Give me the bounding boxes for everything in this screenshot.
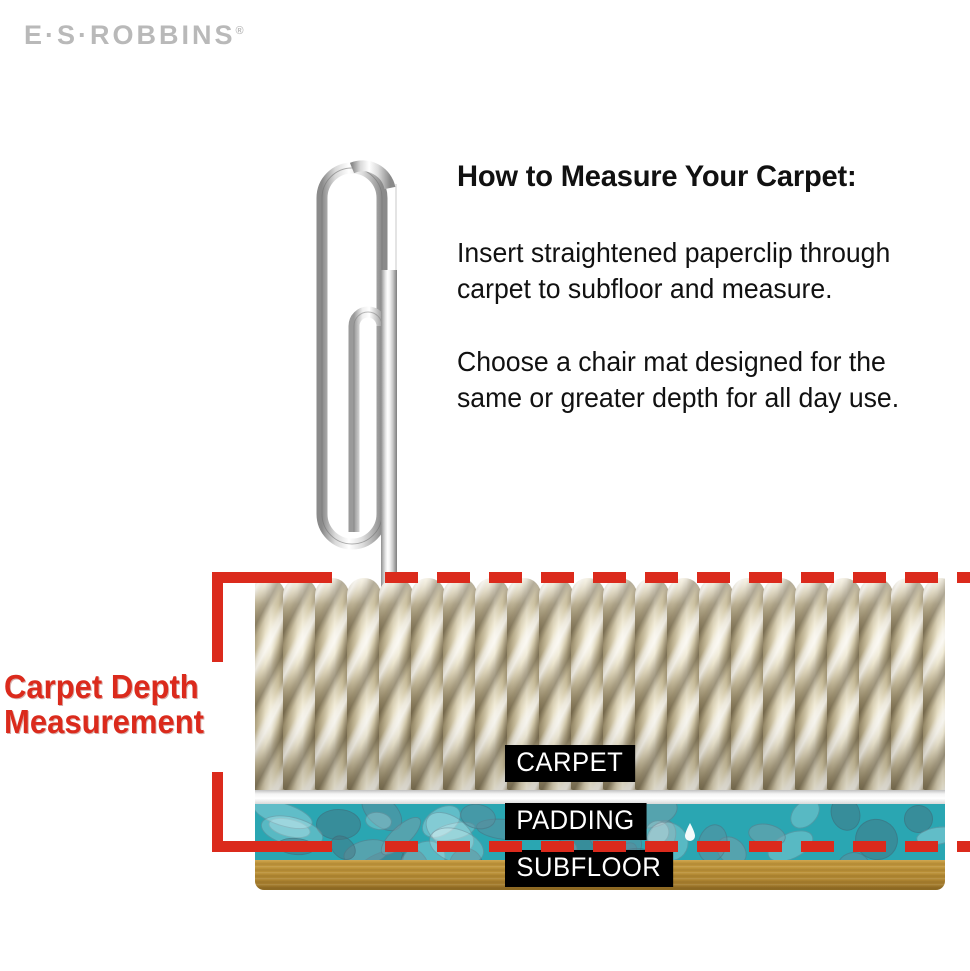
dash-segment — [437, 572, 470, 583]
brand-logo: E·S·ROBBINS® — [24, 20, 244, 51]
dash-segment — [593, 572, 626, 583]
instruction-paragraph-2: Choose a chair mat designed for the same… — [457, 344, 913, 417]
dash-segment — [489, 841, 522, 852]
carpet-fiber — [891, 578, 925, 790]
carpet-fiber — [667, 578, 701, 790]
dash-segment — [645, 841, 678, 852]
carpet-fiber — [315, 578, 349, 790]
dash-segment — [437, 841, 470, 852]
page-title: How to Measure Your Carpet: — [457, 160, 923, 193]
dash-segment — [853, 572, 886, 583]
bracket-bottom-stem — [212, 772, 223, 852]
bracket-top-arm — [212, 572, 332, 583]
instruction-panel: How to Measure Your Carpet: Insert strai… — [457, 160, 937, 417]
dash-segment — [541, 572, 574, 583]
bracket-top-stem — [212, 572, 223, 662]
dash-segment — [957, 572, 970, 583]
dash-segment — [853, 841, 886, 852]
carpet-fiber — [443, 578, 477, 790]
dash-segment — [541, 841, 574, 852]
dash-segment — [957, 841, 970, 852]
dash-segment — [697, 572, 730, 583]
dash-segment — [905, 572, 938, 583]
dash-segment — [801, 572, 834, 583]
dash-segment — [905, 841, 938, 852]
registered-trademark-icon: ® — [236, 25, 244, 37]
dash-segment — [749, 841, 782, 852]
dash-segment — [593, 841, 626, 852]
carpet-fiber — [859, 578, 893, 790]
carpet-fiber — [411, 578, 445, 790]
carpet-fiber — [475, 578, 509, 790]
dashed-line-carpet-top — [385, 572, 970, 583]
carpet-fiber — [379, 578, 413, 790]
carpet-backing-strip — [255, 790, 945, 804]
bracket-bottom-arm — [212, 841, 332, 852]
dash-segment — [645, 572, 678, 583]
carpet-depth-measurement-label: Carpet Depth Measurement — [4, 670, 230, 740]
carpet-fiber — [923, 578, 945, 790]
droplet-icon — [684, 822, 696, 842]
layer-label-padding: PADDING — [505, 803, 646, 840]
brand-logo-text: E·S·ROBBINS® — [24, 20, 244, 50]
carpet-fiber — [795, 578, 829, 790]
carpet-fiber — [827, 578, 861, 790]
dashed-line-subfloor-top — [385, 841, 970, 852]
measurement-label-line-2: Measurement — [4, 705, 230, 740]
dash-segment — [801, 841, 834, 852]
carpet-fiber — [283, 578, 317, 790]
layer-label-subfloor: SUBFLOOR — [505, 850, 673, 887]
dash-segment — [385, 841, 418, 852]
carpet-fiber — [635, 578, 669, 790]
carpet-fiber — [731, 578, 765, 790]
instruction-paragraph-1: Insert straightened paperclip through ca… — [457, 235, 913, 308]
dash-segment — [749, 572, 782, 583]
carpet-fiber — [347, 578, 381, 790]
dash-segment — [385, 572, 418, 583]
dash-segment — [697, 841, 730, 852]
layer-label-carpet: CARPET — [505, 745, 635, 782]
carpet-fiber — [699, 578, 733, 790]
measurement-label-line-1: Carpet Depth — [4, 670, 230, 705]
carpet-fiber — [255, 578, 285, 790]
carpet-fiber — [763, 578, 797, 790]
dash-segment — [489, 572, 522, 583]
